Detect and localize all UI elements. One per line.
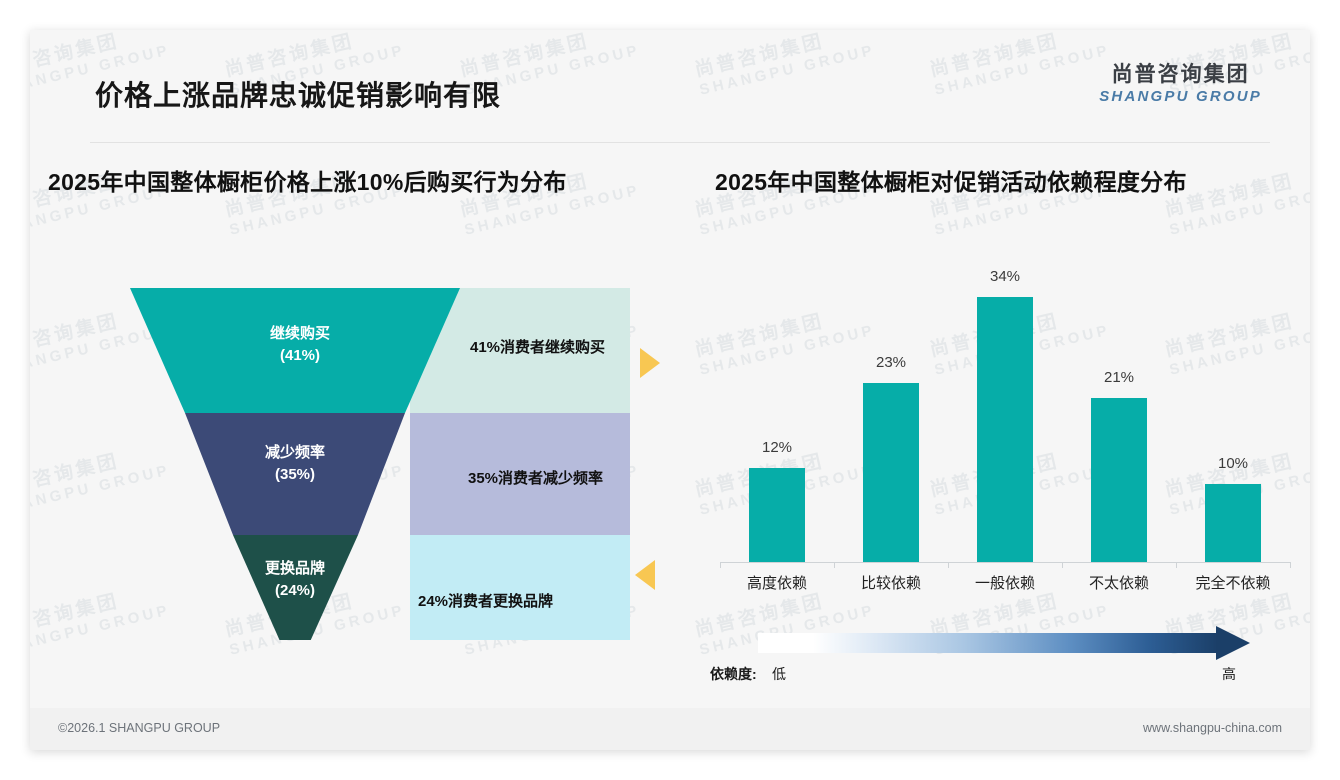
bar-value-label: 12% <box>762 439 792 456</box>
triangle-left-icon <box>635 560 655 590</box>
slide-card: 尚普咨询集团SHANGPU GROUP尚普咨询集团SHANGPU GROUP尚普… <box>30 30 1310 750</box>
bar-category-label: 完全不依赖 <box>1176 572 1290 593</box>
funnel-stage-2-name: 减少频率 <box>265 444 325 461</box>
funnel-desc-1: 41%消费者继续购买 <box>470 336 605 357</box>
bar-rect[interactable] <box>863 383 919 562</box>
axis-tick <box>720 562 721 568</box>
bar-axis-line <box>720 562 1290 563</box>
bar-column[interactable]: 23% <box>834 250 948 562</box>
brand-logo: 尚普咨询集团 SHANGPU GROUP <box>1099 62 1262 107</box>
bar-value-label: 21% <box>1104 369 1134 386</box>
bar-value-label: 10% <box>1218 455 1248 472</box>
legend-low-label: 低 <box>772 664 786 684</box>
funnel-stage-2-value: (35%) <box>275 466 315 483</box>
funnel-label-3: 更换品牌 (24%) <box>215 558 375 602</box>
bar-category-label: 高度依赖 <box>720 572 834 593</box>
gradient-arrow <box>758 626 1250 660</box>
axis-tick <box>1062 562 1063 568</box>
gradient-bar <box>758 633 1218 653</box>
bar-value-label: 23% <box>876 354 906 371</box>
logo-chinese-text: 尚普咨询集团 <box>1099 62 1262 87</box>
slide-footer: ©2026.1 SHANGPU GROUP www.shangpu-china.… <box>30 708 1310 750</box>
bar-category-label: 不太依赖 <box>1062 572 1176 593</box>
axis-tick <box>1176 562 1177 568</box>
axis-tick <box>948 562 949 568</box>
funnel-desc-3: 24%消费者更换品牌 <box>418 590 553 611</box>
bar-rect[interactable] <box>1205 484 1261 562</box>
bar-column[interactable]: 12% <box>720 250 834 562</box>
dependency-gradient-legend: 依赖度: 低 高 <box>710 626 1300 686</box>
bar-column[interactable]: 21% <box>1062 250 1176 562</box>
bar-rect[interactable] <box>749 468 805 562</box>
bar-category-label: 比较依赖 <box>834 572 948 593</box>
bar-category-label: 一般依赖 <box>948 572 1062 593</box>
header-divider <box>90 142 1270 143</box>
footer-copyright: ©2026.1 SHANGPU GROUP <box>58 721 220 735</box>
funnel-label-2: 减少频率 (35%) <box>215 442 375 486</box>
bar-rect[interactable] <box>977 297 1033 562</box>
bar-column[interactable]: 10% <box>1176 250 1290 562</box>
funnel-label-1: 继续购买 (41%) <box>220 323 380 367</box>
axis-tick <box>834 562 835 568</box>
triangle-right-icon <box>640 348 660 378</box>
funnel-stage-3-name: 更换品牌 <box>265 560 325 577</box>
axis-tick <box>1290 562 1291 568</box>
bar-rect[interactable] <box>1091 398 1147 562</box>
funnel-chart: 继续购买 (41%) 减少频率 (35%) 更换品牌 (24%) 41%消费者继… <box>70 220 670 640</box>
gradient-arrowhead-icon <box>1216 626 1250 660</box>
footer-website[interactable]: www.shangpu-china.com <box>1143 721 1282 735</box>
legend-high-label: 高 <box>1222 664 1236 684</box>
page-title: 价格上涨品牌忠诚促销影响有限 <box>95 74 501 114</box>
logo-english-text: SHANGPU GROUP <box>1099 87 1262 107</box>
slide-header: 价格上涨品牌忠诚促销影响有限 尚普咨询集团 SHANGPU GROUP <box>30 30 1310 142</box>
funnel-panel-3 <box>410 535 630 640</box>
funnel-desc-2: 35%消费者减少频率 <box>468 467 603 488</box>
right-chart-heading: 2025年中国整体橱柜对促销活动依赖程度分布 <box>715 163 1187 197</box>
legend-title: 依赖度: <box>710 664 757 684</box>
bar-plot-area: 12%23%34%21%10% <box>720 250 1290 562</box>
bar-value-label: 34% <box>990 268 1020 285</box>
funnel-stage-1-value: (41%) <box>280 347 320 364</box>
funnel-stage-1-name: 继续购买 <box>270 325 330 342</box>
left-chart-heading: 2025年中国整体橱柜价格上涨10%后购买行为分布 <box>48 163 567 197</box>
funnel-stage-3-value: (24%) <box>275 582 315 599</box>
bar-column[interactable]: 34% <box>948 250 1062 562</box>
